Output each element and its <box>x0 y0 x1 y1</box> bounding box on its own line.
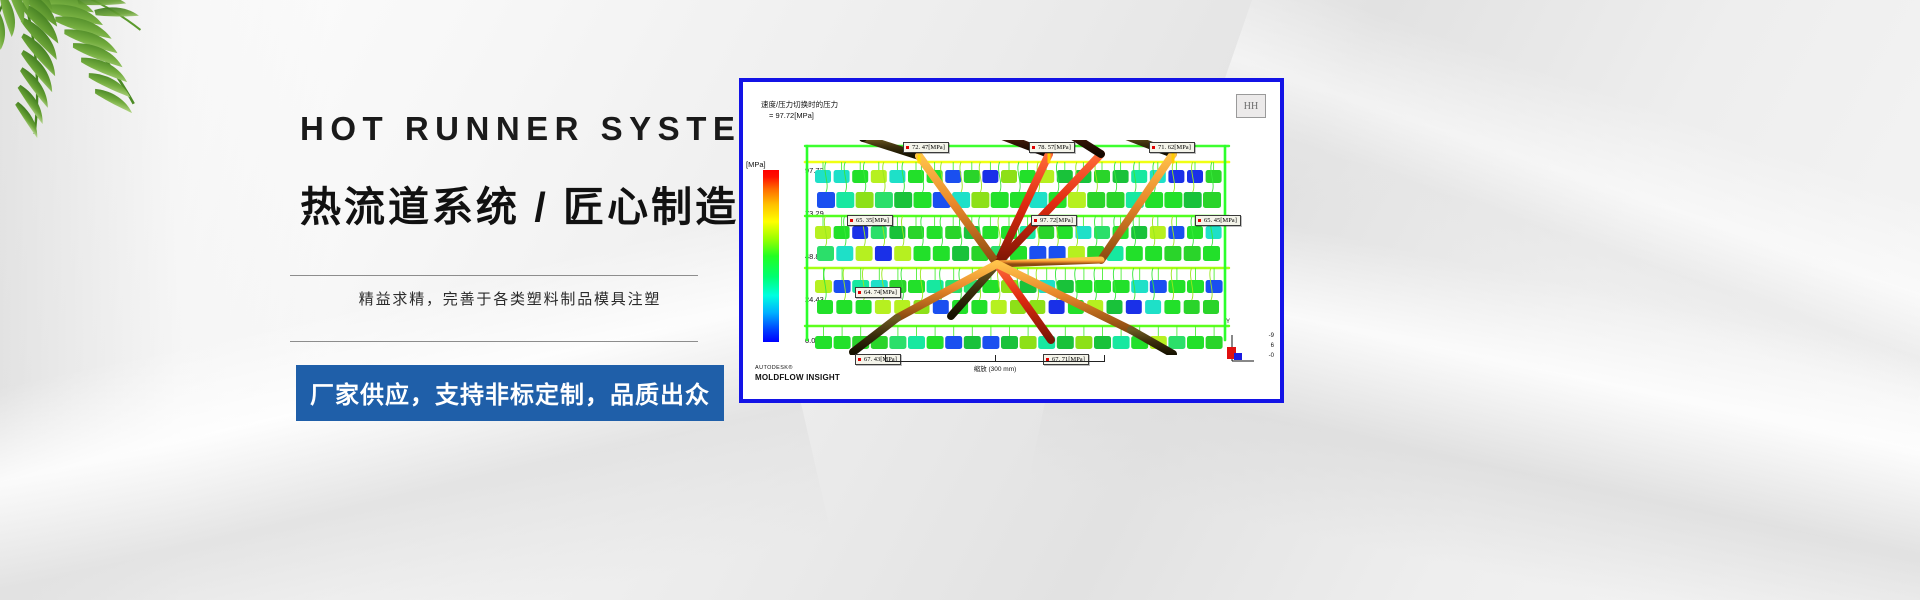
callout-f[interactable]: 64. 74[MPa] <box>855 287 901 298</box>
page-title-chinese: 热流道系统 / 匠心制造 <box>300 185 720 230</box>
callout-a[interactable]: 72. 47[MPa] <box>903 142 949 153</box>
pressure-colorbar: 97.72 73.29 48.86 24.43 0.0000 <box>763 170 779 342</box>
axis-tick-2: -0 <box>1269 353 1274 359</box>
axis-tick-0: -9 <box>1269 333 1274 339</box>
hero-text-block: HOT RUNNER SYSTEM 热流道系统 / 匠心制造 精益求精，完善于各… <box>300 112 720 421</box>
moldflow-simulation-panel: 速度/压力切换时的压力 = 97.72[MPa] HH [MPa] 97.72 … <box>739 78 1284 403</box>
background-sweep-right-diagonal <box>1196 0 1920 409</box>
callout-d[interactable]: 65. 35[MPa] <box>847 215 893 226</box>
moldflow-result-title-line2: = 97.72[MPa] <box>761 111 838 122</box>
mold-layout-svg <box>801 140 1231 355</box>
mold-layout-plot <box>801 140 1231 355</box>
hero-banner: HOT RUNNER SYSTEM 热流道系统 / 匠心制造 精益求精，完善于各… <box>0 0 1920 600</box>
moldflow-result-title-line1: 速度/压力切换时的压力 <box>761 100 838 111</box>
callout-c[interactable]: 71. 62[MPa] <box>1149 142 1195 153</box>
axis-tick-1: 6 <box>1271 343 1274 349</box>
colorbar-units-label: [MPa] <box>746 160 766 169</box>
autodesk-brand-label: AUTODESK® <box>755 365 840 372</box>
callout-b[interactable]: 78. 57[MPa] <box>1029 142 1075 153</box>
moldflow-result-title: 速度/压力切换时的压力 = 97.72[MPa] <box>761 100 838 122</box>
moldflow-product-label: MOLDFLOW INSIGHT <box>755 373 840 383</box>
cta-banner[interactable]: 厂家供应，支持非标定制，品质出众 <box>296 365 724 421</box>
axis-label-y: Y <box>1226 319 1230 325</box>
palm-leaf-decoration <box>0 0 300 260</box>
callout-center[interactable]: 97. 72[MPa] <box>1031 215 1077 226</box>
scale-bar-caption: 缩放 (300 mm) <box>885 362 1105 373</box>
axis-triad: Y -9 6 -0 <box>1224 321 1264 367</box>
moldflow-canvas: 速度/压力切换时的压力 = 97.72[MPa] HH [MPa] 97.72 … <box>743 82 1280 399</box>
page-subtitle: 精益求精，完善于各类塑料制品模具注塑 <box>300 276 720 320</box>
divider-bottom <box>290 341 698 342</box>
callout-e[interactable]: 65. 45[MPa] <box>1195 215 1241 226</box>
scale-bar-line <box>885 355 1105 362</box>
watermark-badge: HH <box>1236 94 1266 118</box>
page-title-english: HOT RUNNER SYSTEM <box>300 112 720 145</box>
colorbar-gradient <box>763 170 779 342</box>
autodesk-moldflow-branding: AUTODESK® MOLDFLOW INSIGHT <box>755 365 840 383</box>
scale-bar: 缩放 (300 mm) <box>885 355 1105 373</box>
